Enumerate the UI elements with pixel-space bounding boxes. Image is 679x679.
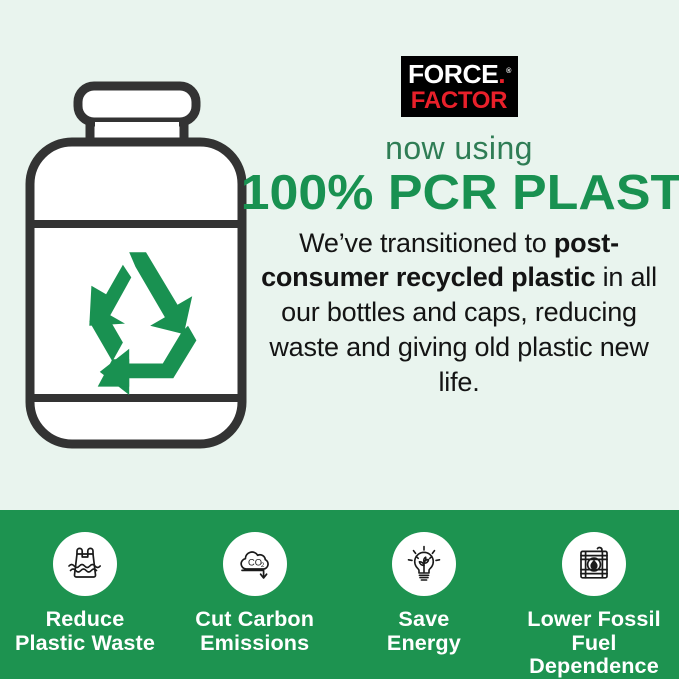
feature-label-line1: Save xyxy=(387,608,461,632)
feature-label-line1: Cut Carbon xyxy=(195,608,314,632)
lightbulb-leaf-icon xyxy=(392,532,456,596)
force-factor-logo-box: FORCE.® FACTOR xyxy=(401,56,518,117)
feature-cut-carbon-emissions: CO 2 Cut Carbon Emissions xyxy=(171,532,339,655)
logo-period: . xyxy=(498,59,505,89)
brand-logo: FORCE.® FACTOR xyxy=(253,56,665,117)
feature-label-line1: Lower Fossil Fuel xyxy=(508,608,679,655)
feature-label-line2: Energy xyxy=(387,632,461,656)
feature-label: Save Energy xyxy=(387,608,461,655)
registered-mark: ® xyxy=(506,68,511,75)
feature-lower-fossil-fuel-dependence: Lower Fossil Fuel Dependence xyxy=(510,532,678,679)
feature-label-line1: Reduce xyxy=(15,608,155,632)
oil-barrel-icon xyxy=(562,532,626,596)
feature-label-line2: Plastic Waste xyxy=(15,632,155,656)
feature-save-energy: Save Energy xyxy=(340,532,508,655)
feature-label-line2: Emissions xyxy=(195,632,314,656)
benefits-banner: Reduce Plastic Waste CO 2 Cut Carbon Emi… xyxy=(0,510,679,679)
eyebrow-text: now using xyxy=(253,131,665,166)
feature-label-line2: Dependence xyxy=(508,655,679,679)
pcr-plastic-infographic: FORCE.® FACTOR now using 100% PCR PLASTI… xyxy=(0,0,679,679)
supplement-bottle-illustration xyxy=(18,78,253,473)
body-bold-2: plastic xyxy=(511,262,595,292)
feature-reduce-plastic-waste: Reduce Plastic Waste xyxy=(1,532,169,655)
logo-force-text: FORCE.® xyxy=(408,61,511,87)
feature-label: Lower Fossil Fuel Dependence xyxy=(508,608,679,679)
top-section: FORCE.® FACTOR now using 100% PCR PLASTI… xyxy=(0,0,679,510)
logo-factor-text: FACTOR xyxy=(411,89,507,113)
plastic-bag-icon xyxy=(53,532,117,596)
feature-label: Reduce Plastic Waste xyxy=(15,608,155,655)
co2-cloud-icon: CO 2 xyxy=(223,532,287,596)
svg-text:2: 2 xyxy=(260,562,264,569)
message-column: FORCE.® FACTOR now using 100% PCR PLASTI… xyxy=(253,56,665,400)
body-line-1: We’ve transitioned to xyxy=(299,228,546,258)
feature-label: Cut Carbon Emissions xyxy=(195,608,314,655)
page-title: 100% PCR PLASTIC xyxy=(241,168,678,219)
body-copy: We’ve transitioned to post-consumer recy… xyxy=(253,226,665,400)
